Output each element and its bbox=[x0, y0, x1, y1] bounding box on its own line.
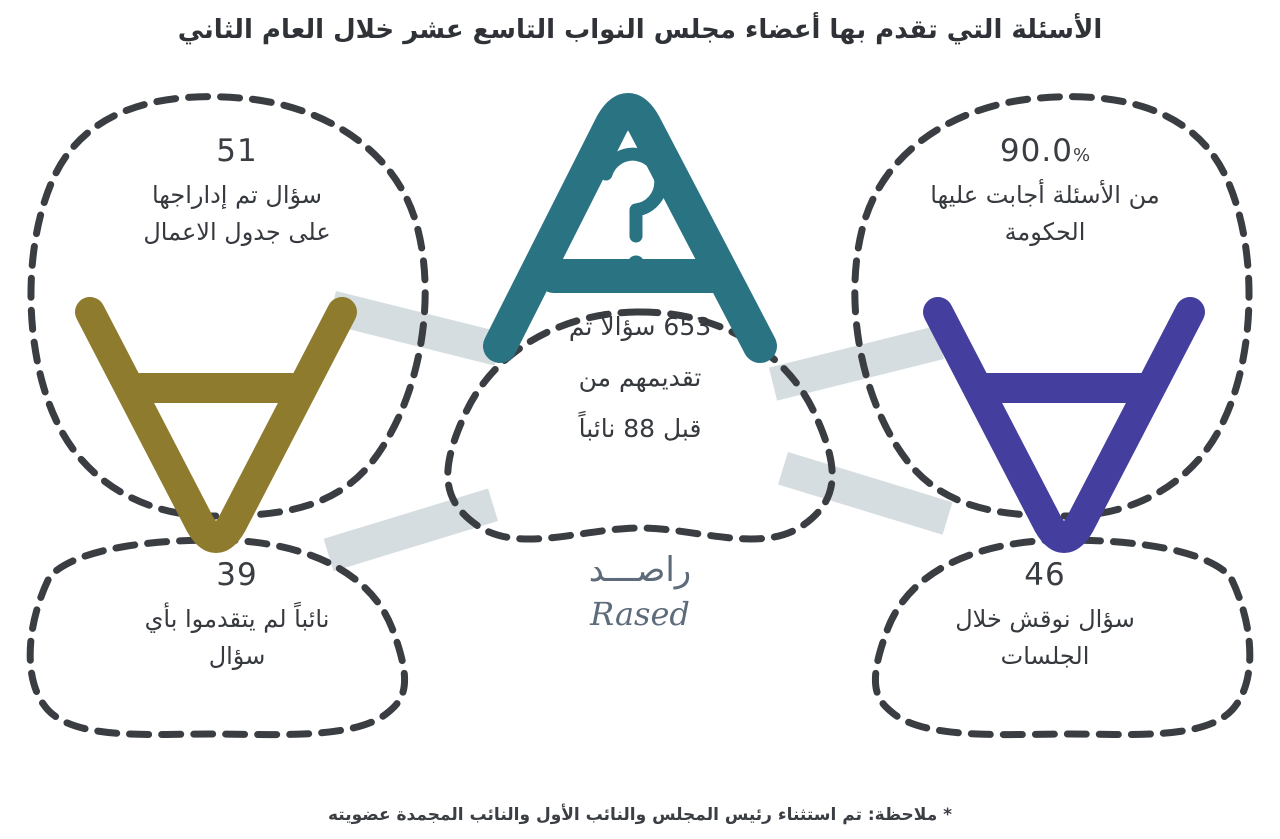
center-line-2: تقديمهم من bbox=[455, 363, 825, 392]
bubble-bottom-left-line-2: سؤال bbox=[52, 638, 422, 674]
bubble-bottom-left-value: 39 bbox=[52, 552, 422, 599]
bubble-top-left: 51 سؤال تم إداراجها على جدول الاعمال bbox=[52, 128, 422, 250]
logo-latin-text: Rased bbox=[470, 595, 810, 633]
center-line-3: قبل 88 نائباً bbox=[455, 414, 825, 443]
rased-logo: راصـــد Rased bbox=[470, 552, 810, 633]
bubble-top-left-line-1: سؤال تم إداراجها bbox=[52, 177, 422, 213]
center-line-1: 653 سؤالاً تم bbox=[455, 312, 825, 341]
bubble-center: 653 سؤالاً تم تقديمهم من قبل 88 نائباً bbox=[455, 312, 825, 443]
bubble-bottom-right-line-2: الجلسات bbox=[860, 638, 1230, 674]
bubble-top-right-line-2: الحكومة bbox=[860, 214, 1230, 250]
bubble-top-right-value: 90.0% bbox=[860, 128, 1230, 175]
footnote: * ملاحظة: تم استثناء رئيس المجلس والنائب… bbox=[0, 805, 1280, 825]
bubble-bottom-right-line-1: سؤال نوقش خلال bbox=[860, 601, 1230, 637]
bubble-top-right-line-1: من الأسئلة أجابت عليها bbox=[860, 177, 1230, 213]
percent-sign: % bbox=[1073, 145, 1090, 166]
question-mark-glyph bbox=[606, 154, 661, 272]
bubble-bottom-right-value: 46 bbox=[860, 552, 1230, 599]
bubble-bottom-left: 39 نائباً لم يتقدموا بأي سؤال bbox=[52, 552, 422, 674]
infographic-canvas: الأسئلة التي تقدم بها أعضاء مجلس النواب … bbox=[0, 0, 1280, 839]
bubble-top-right: 90.0% من الأسئلة أجابت عليها الحكومة bbox=[860, 128, 1230, 250]
logo-arabic-text: راصـــد bbox=[470, 552, 810, 589]
bubble-bottom-right: 46 سؤال نوقش خلال الجلسات bbox=[860, 552, 1230, 674]
bubble-bottom-left-line-1: نائباً لم يتقدموا بأي bbox=[52, 601, 422, 637]
bubble-top-left-value: 51 bbox=[52, 128, 422, 175]
bubble-top-left-line-2: على جدول الاعمال bbox=[52, 214, 422, 250]
